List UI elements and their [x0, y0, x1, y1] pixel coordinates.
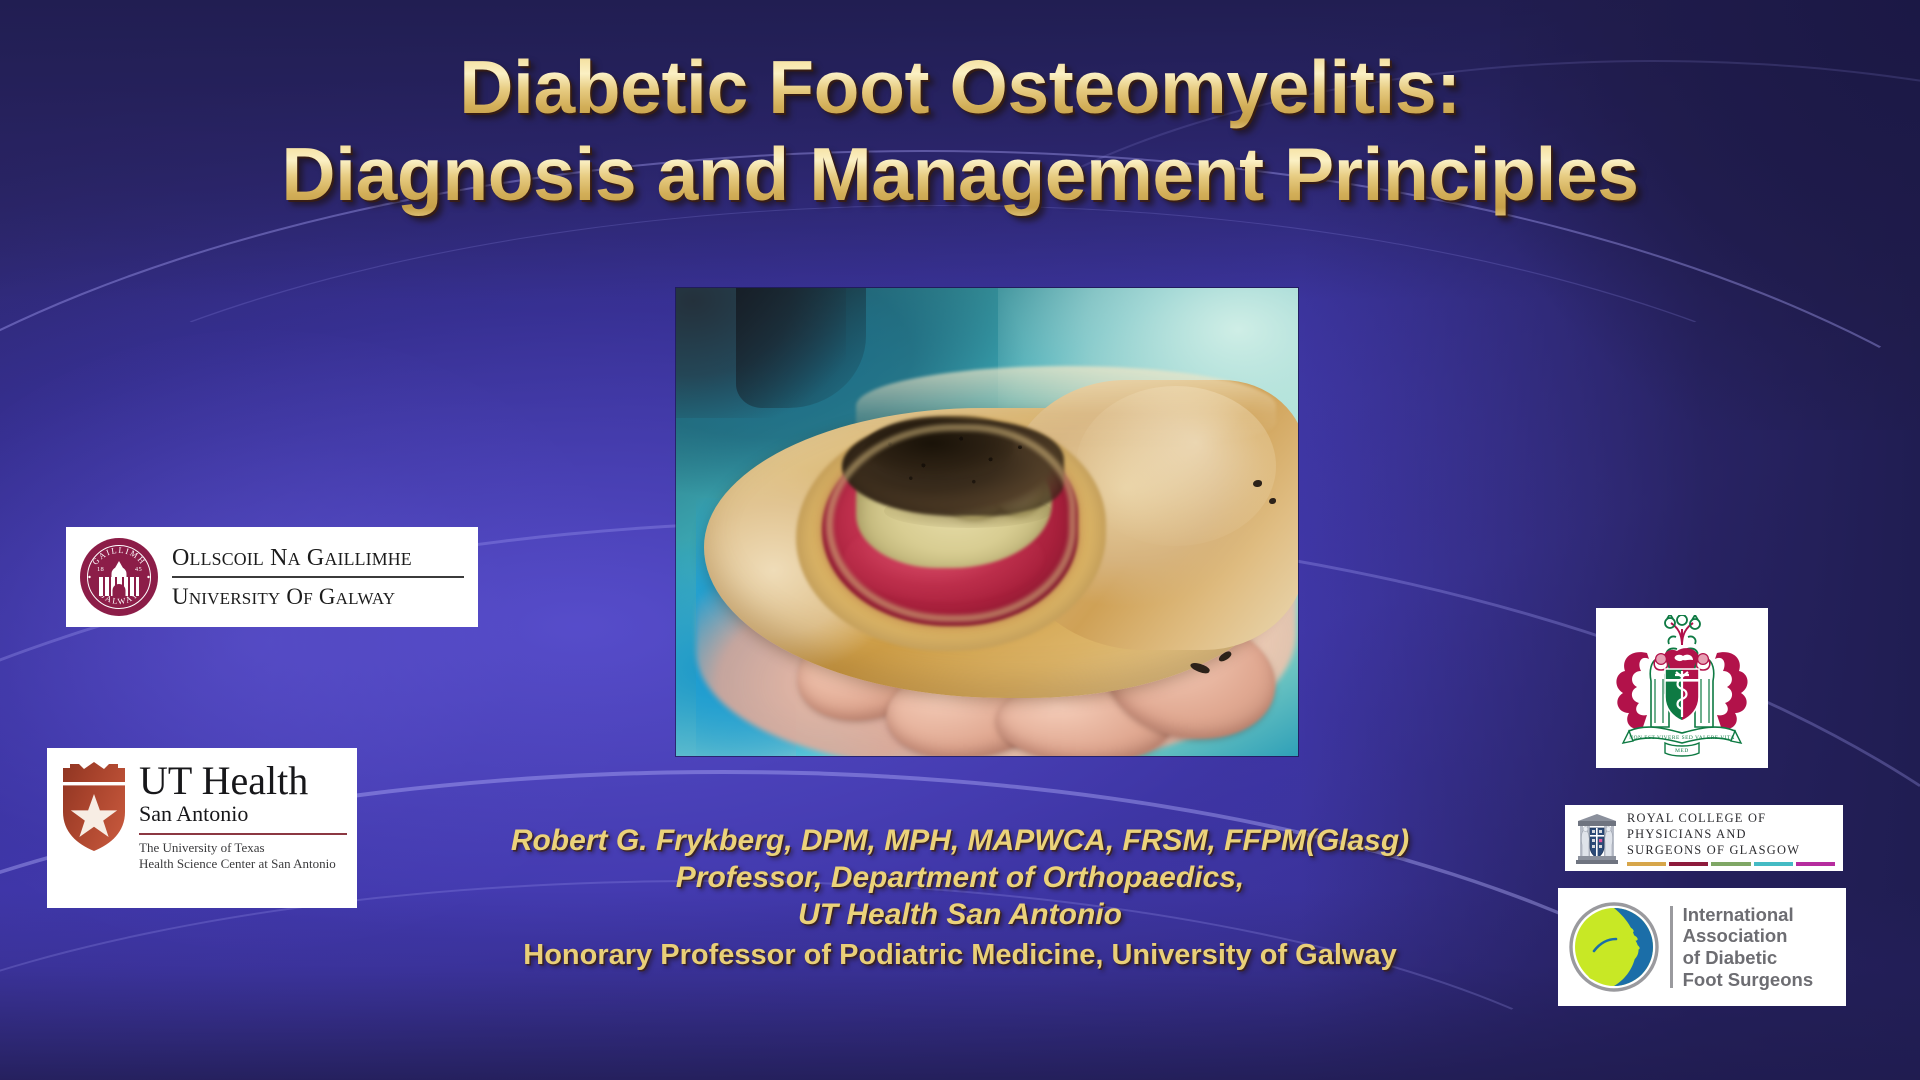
- ut-health-city: San Antonio: [139, 802, 347, 826]
- ut-health-wordmark: UT Health San Antonio The University of …: [139, 760, 347, 873]
- rcpsg-color-bar: [1627, 862, 1835, 867]
- slide-title: Diabetic Foot Osteomyelitis: Diagnosis a…: [0, 44, 1920, 218]
- author-role: Professor, Department of Orthopaedics,: [360, 859, 1560, 896]
- iadfs-wordmark: International Association of Diabetic Fo…: [1683, 904, 1838, 991]
- title-line-2: Diagnosis and Management Principles: [0, 131, 1920, 218]
- skin-mark: [1269, 498, 1276, 504]
- ut-health-subline-1: The University of Texas: [139, 840, 347, 857]
- iadfs-line-2: Association: [1683, 925, 1838, 947]
- iadfs-divider: [1670, 906, 1673, 988]
- rcpsg-line-2: PHYSICIANS AND: [1627, 826, 1835, 842]
- foot-specular-highlight: [1076, 386, 1276, 546]
- rcpsg-crest-icon: [1575, 811, 1619, 865]
- presentation-slide: Diabetic Foot Osteomyelitis: Diagnosis a…: [0, 0, 1920, 1080]
- rcpsg-bar-segment-2: [1669, 862, 1708, 867]
- author-affiliation-block: Robert G. Frykberg, DPM, MPH, MAPWCA, FR…: [360, 822, 1560, 974]
- author-institution: UT Health San Antonio: [360, 896, 1560, 933]
- university-of-galway-logo: GAILLIMH GALWAY 18 45: [66, 527, 478, 627]
- crest-motto: NON EST VIVERE SED VALERE VITA: [1629, 735, 1735, 741]
- quadrangle-building-icon: [99, 562, 139, 596]
- ulcer-rim: [826, 424, 1076, 622]
- galway-irish-name: OLLSCOIL NA GAILLIMHE: [172, 546, 464, 570]
- diabetic-foot-circle-icon: [1568, 901, 1660, 993]
- rcpsg-bar-segment-1: [1627, 862, 1666, 867]
- royal-college-of-surgeons-crest-logo: NON EST VIVERE SED VALERE VITA MED: [1596, 608, 1768, 768]
- galway-wordmark: OLLSCOIL NA GAILLIMHE UNIVERSITY OF GALW…: [172, 546, 464, 608]
- clinical-photo-content: [676, 288, 1298, 756]
- galway-seal-icon: GAILLIMH GALWAY 18 45: [80, 538, 158, 616]
- rcpsg-bar-segment-5: [1796, 862, 1835, 867]
- international-association-of-diabetic-foot-surgeons-logo: International Association of Diabetic Fo…: [1558, 888, 1846, 1006]
- clinical-photo: [676, 288, 1298, 756]
- rcpsg-wordmark: ROYAL COLLEGE OF PHYSICIANS AND SURGEONS…: [1627, 810, 1835, 867]
- ut-health-name: UT Health: [139, 762, 347, 800]
- ut-health-subline-2: Health Science Center at San Antonio: [139, 856, 347, 873]
- heraldic-crest-icon: NON EST VIVERE SED VALERE VITA MED: [1607, 615, 1757, 761]
- iadfs-line-3: of Diabetic: [1683, 947, 1838, 969]
- iadfs-line-4: Foot Surgeons: [1683, 969, 1838, 991]
- rcpsg-line-1: ROYAL COLLEGE OF: [1627, 810, 1835, 826]
- rcpsg-line-3: SURGEONS OF GLASGOW: [1627, 842, 1835, 858]
- crest-motto-center: MED: [1675, 748, 1689, 754]
- title-line-1: Diabetic Foot Osteomyelitis:: [0, 44, 1920, 131]
- iadfs-line-1: International: [1683, 904, 1838, 926]
- author-honorary-role: Honorary Professor of Podiatric Medicine…: [360, 938, 1560, 974]
- ut-shield-star-icon: [59, 760, 129, 854]
- royal-college-of-physicians-and-surgeons-of-glasgow-logo: ROYAL COLLEGE OF PHYSICIANS AND SURGEONS…: [1565, 805, 1843, 871]
- galway-divider: [172, 576, 464, 578]
- ut-health-san-antonio-logo: UT Health San Antonio The University of …: [47, 748, 357, 908]
- ut-health-divider: [139, 833, 347, 834]
- author-name-credentials: Robert G. Frykberg, DPM, MPH, MAPWCA, FR…: [360, 822, 1560, 859]
- galway-english-name: UNIVERSITY OF GALWAY: [172, 585, 464, 608]
- archway: [113, 584, 126, 596]
- rcpsg-bar-segment-4: [1754, 862, 1793, 867]
- rcpsg-bar-segment-3: [1711, 862, 1750, 867]
- skin-mark: [1253, 480, 1262, 487]
